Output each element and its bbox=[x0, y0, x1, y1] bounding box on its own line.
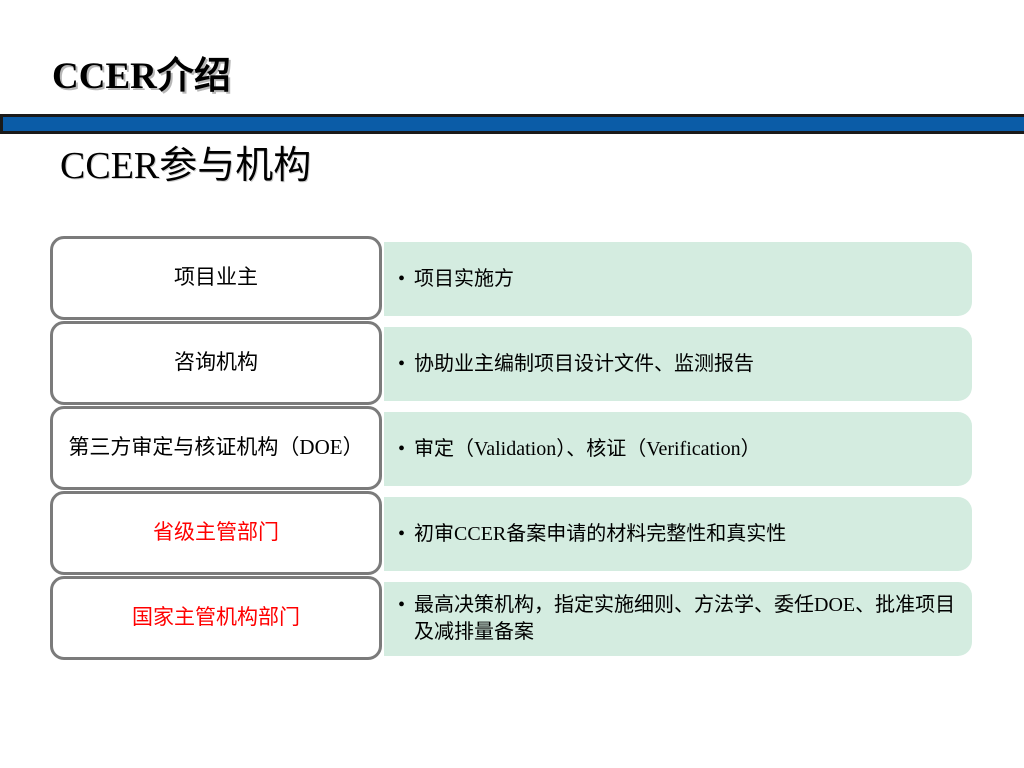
bullet-panel: • 项目实施方 bbox=[384, 242, 972, 316]
bullet-text: 项目实施方 bbox=[414, 266, 514, 293]
bullet-text: 最高决策机构，指定实施细则、方法学、委任DOE、批准项目及减排量备案 bbox=[414, 592, 960, 646]
bullet-panel: • 初审CCER备案申请的材料完整性和真实性 bbox=[384, 497, 972, 571]
bullet-row: • 审定（Validation）、核证（Verification） bbox=[384, 436, 773, 463]
label-box-text: 省级主管部门 bbox=[145, 520, 287, 546]
bullet-text: 协助业主编制项目设计文件、监测报告 bbox=[414, 351, 754, 378]
bullet-marker-icon: • bbox=[398, 521, 405, 548]
label-box-text: 项目业主 bbox=[166, 265, 266, 291]
bullet-marker-icon: • bbox=[398, 266, 405, 293]
bullet-marker-icon: • bbox=[398, 592, 405, 619]
bullet-row: • 最高决策机构，指定实施细则、方法学、委任DOE、批准项目及减排量备案 bbox=[384, 592, 972, 646]
bullet-text: 审定（Validation）、核证（Verification） bbox=[414, 436, 761, 463]
bullet-row: • 协助业主编制项目设计文件、监测报告 bbox=[384, 351, 766, 378]
bullet-text: 初审CCER备案申请的材料完整性和真实性 bbox=[414, 521, 786, 548]
bullet-row: • 初审CCER备案申请的材料完整性和真实性 bbox=[384, 521, 798, 548]
label-box-text: 第三方审定与核证机构（DOE） bbox=[60, 435, 371, 461]
label-box-text: 国家主管机构部门 bbox=[124, 605, 308, 631]
label-box: 第三方审定与核证机构（DOE） bbox=[50, 406, 382, 490]
participants-diagram: • 项目实施方 项目业主 • 协助业主编制项目设计文件、监测报告 咨询机构 • … bbox=[0, 0, 1024, 768]
bullet-panel: • 最高决策机构，指定实施细则、方法学、委任DOE、批准项目及减排量备案 bbox=[384, 582, 972, 656]
bullet-panel: • 审定（Validation）、核证（Verification） bbox=[384, 412, 972, 486]
label-box: 国家主管机构部门 bbox=[50, 576, 382, 660]
label-box-text: 咨询机构 bbox=[166, 350, 266, 376]
label-box: 省级主管部门 bbox=[50, 491, 382, 575]
label-box: 项目业主 bbox=[50, 236, 382, 320]
bullet-marker-icon: • bbox=[398, 351, 405, 378]
bullet-marker-icon: • bbox=[398, 436, 405, 463]
bullet-panel: • 协助业主编制项目设计文件、监测报告 bbox=[384, 327, 972, 401]
label-box: 咨询机构 bbox=[50, 321, 382, 405]
bullet-row: • 项目实施方 bbox=[384, 266, 526, 293]
